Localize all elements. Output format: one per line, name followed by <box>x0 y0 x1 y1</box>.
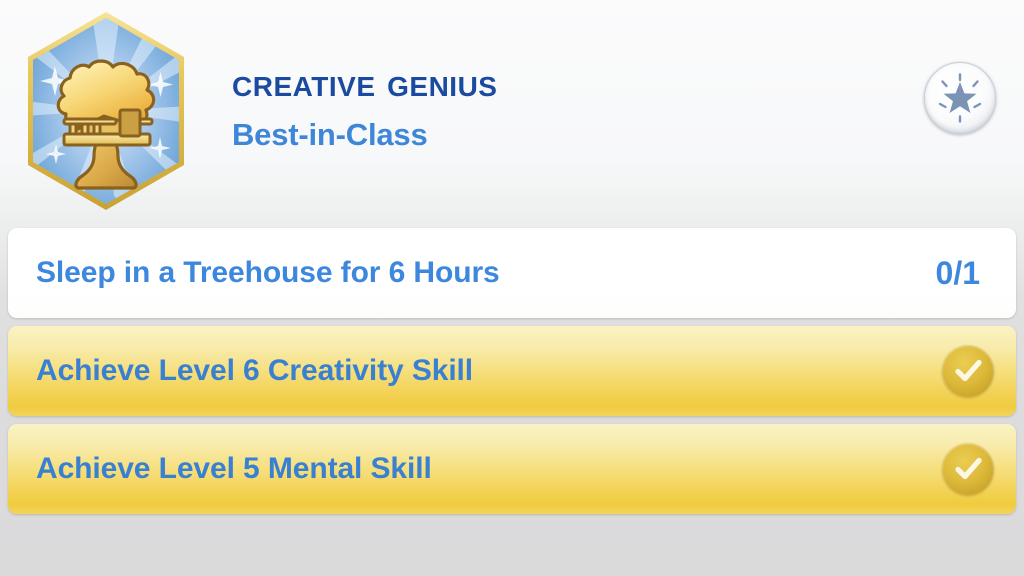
task-row[interactable]: Sleep in a Treehouse for 6 Hours 0/1 <box>8 228 1016 318</box>
task-row[interactable]: Achieve Level 5 Mental Skill <box>8 424 1016 514</box>
page-title: Creative Genius <box>232 62 892 104</box>
check-icon <box>942 443 994 495</box>
aspiration-header: Creative Genius Best-in-Class <box>0 0 1024 225</box>
task-list: Sleep in a Treehouse for 6 Hours 0/1 Ach… <box>0 228 1024 522</box>
sparkle-star-button[interactable] <box>924 62 996 134</box>
page-subtitle: Best-in-Class <box>232 118 892 152</box>
task-row[interactable]: Achieve Level 6 Creativity Skill <box>8 326 1016 416</box>
title-block: Creative Genius Best-in-Class <box>232 62 892 152</box>
treehouse-hexagon-badge-icon <box>8 6 204 216</box>
aspiration-panel: Creative Genius Best-in-Class <box>0 0 1024 576</box>
check-icon <box>942 345 994 397</box>
task-label: Achieve Level 5 Mental Skill <box>36 452 942 486</box>
task-label: Achieve Level 6 Creativity Skill <box>36 354 942 388</box>
sparkle-star-icon <box>934 72 986 124</box>
task-progress-count: 0/1 <box>936 255 980 292</box>
task-label: Sleep in a Treehouse for 6 Hours <box>36 256 936 290</box>
